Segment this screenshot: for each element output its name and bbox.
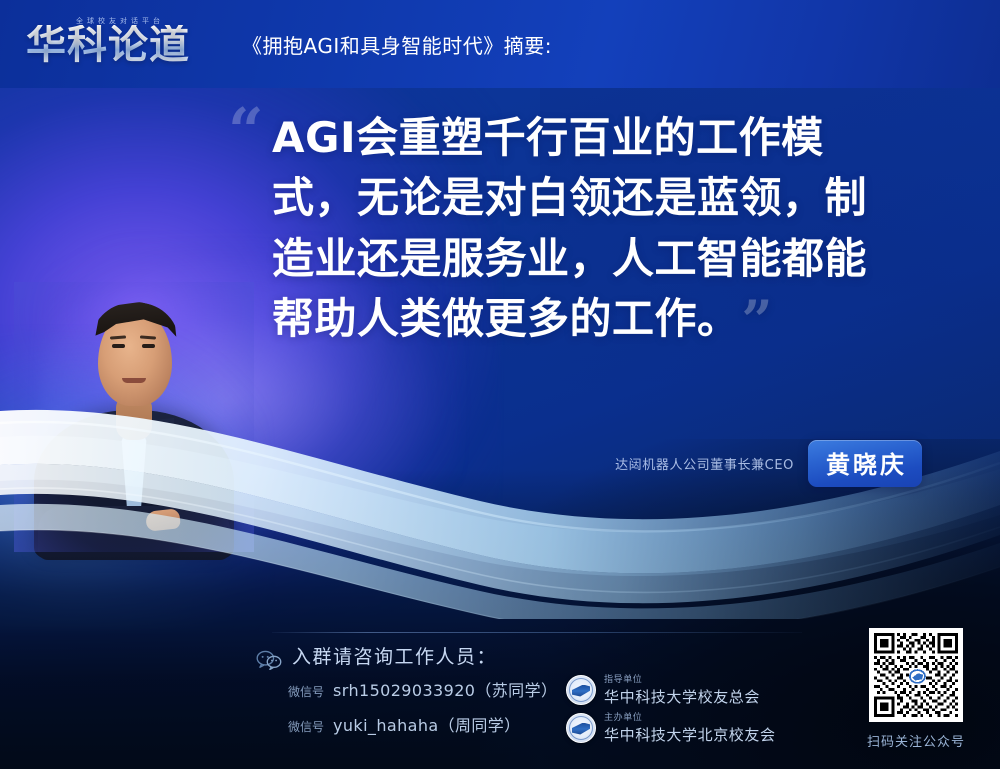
qr-code-glyph (874, 633, 958, 717)
portrait-eye-right (142, 344, 155, 348)
contact-value-1[interactable]: srh15029033920（苏同学） (333, 677, 557, 701)
contact-value-2[interactable]: yuki_hahaha（周同学） (333, 712, 521, 736)
quote-block: “ AGI会重塑千行百业的工作模 式，无论是对白领还是蓝领，制 造业还是服务业，… (272, 108, 944, 350)
organization-kind-2: 主办单位 (604, 710, 776, 723)
contact-label-1: 微信号 (288, 683, 324, 700)
organization-name-1: 华中科技大学校友总会 (604, 686, 760, 707)
contact-row-1: 微信号 srh15029033920（苏同学） (288, 677, 557, 701)
quote-open-mark: “ (228, 100, 264, 162)
qr-caption: 扫码关注公众号 (854, 731, 978, 750)
organization-kind-1: 指导单位 (604, 672, 760, 685)
poster-root: 全球校友对话平台 华科论道 《拥抱AGI和具身智能时代》摘要: “ AGI会重塑… (0, 0, 1000, 769)
contact-row-2: 微信号 yuki_hahaha（周同学） (288, 712, 521, 736)
organization-name-2: 华中科技大学北京校友会 (604, 724, 776, 745)
qr-code-image[interactable] (869, 628, 963, 722)
wechat-icon (256, 650, 282, 670)
organization-row-2: 主办单位 华中科技大学北京校友会 (566, 710, 776, 745)
university-seal-icon (566, 713, 596, 743)
speaker-portrait (28, 282, 240, 550)
portrait-hand (145, 508, 181, 531)
university-seal-icon (566, 675, 596, 705)
contact-label-2: 微信号 (288, 718, 324, 735)
quote-line-1: AGI会重塑千行百业的工作模 (272, 113, 824, 162)
portrait-crossed-arms (38, 506, 230, 560)
portrait-eye-left (112, 344, 125, 348)
footer-divider (272, 632, 802, 633)
brand-logo[interactable]: 全球校友对话平台 华科论道 (26, 13, 212, 75)
page-title: 《拥抱AGI和具身智能时代》摘要: (242, 30, 552, 59)
portrait-mouth (122, 378, 146, 383)
speaker-role: 达闼机器人公司董事长兼CEO (615, 454, 794, 473)
qr-block: 扫码关注公众号 (854, 628, 978, 750)
quote-line-3: 造业还是服务业，人工智能都能 (272, 234, 867, 283)
footer-heading: 入群请咨询工作人员： (292, 642, 497, 669)
speaker-name-badge: 黄晓庆 (808, 440, 922, 487)
organization-text-1: 指导单位 华中科技大学校友总会 (604, 672, 760, 707)
organization-row-1: 指导单位 华中科技大学校友总会 (566, 672, 760, 707)
organization-text-2: 主办单位 华中科技大学北京校友会 (604, 710, 776, 745)
attribution: 达闼机器人公司董事长兼CEO 黄晓庆 (615, 440, 922, 487)
brand-name: 华科论道 (26, 25, 190, 65)
quote-line-2: 式，无论是对白领还是蓝领，制 (272, 173, 867, 222)
quote-line-4: 帮助人类做更多的工作。 (272, 294, 740, 343)
quote-text: AGI会重塑千行百业的工作模 式，无论是对白领还是蓝领，制 造业还是服务业，人工… (272, 108, 944, 350)
poster-header: 全球校友对话平台 华科论道 《拥抱AGI和具身智能时代》摘要: (0, 0, 1000, 88)
